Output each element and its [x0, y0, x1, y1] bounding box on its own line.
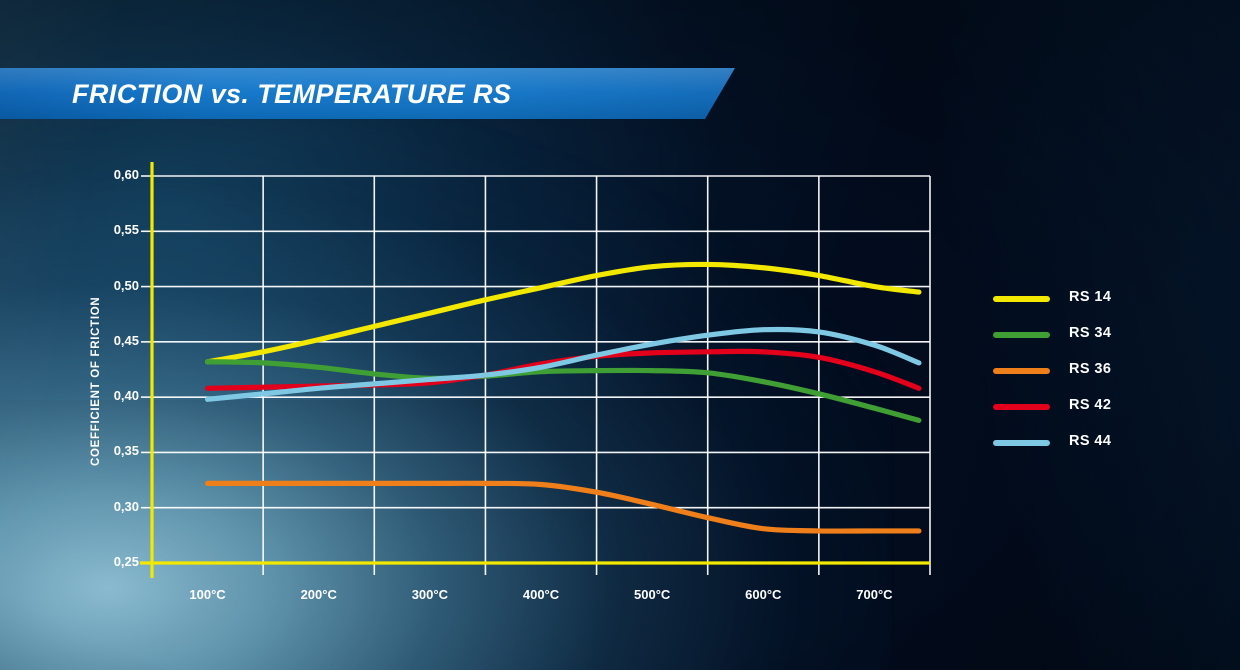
y-axis-title: COEFFICIENT OF FRICTION — [90, 297, 102, 466]
x-axis-tick-marks — [263, 563, 930, 575]
legend-swatch-rs36 — [993, 368, 1050, 374]
y-tick-label: 0,50 — [91, 278, 139, 293]
legend-swatch-rs44 — [993, 440, 1050, 446]
friction-chart-page: FRICTION vs. TEMPERATURE RS 0,600,550,50… — [0, 0, 1240, 670]
legend-label-rs14: RS 14 — [1069, 289, 1111, 305]
legend-label-rs44: RS 44 — [1069, 433, 1111, 449]
x-tick-label: 100°C — [163, 587, 253, 602]
legend-item[interactable]: RS 44 — [993, 429, 1203, 465]
y-tick-label: 0,25 — [91, 554, 139, 569]
y-axis-tick-marks — [141, 176, 152, 508]
legend-label-rs36: RS 36 — [1069, 361, 1111, 377]
x-tick-label: 200°C — [274, 587, 364, 602]
chart-legend: RS 14 RS 34 RS 36 RS 42 RS 44 — [993, 285, 1203, 465]
legend-item[interactable]: RS 34 — [993, 321, 1203, 357]
legend-swatch-rs14 — [993, 296, 1050, 302]
y-tick-label: 0,55 — [91, 222, 139, 237]
legend-swatch-rs34 — [993, 332, 1050, 338]
gridlines-horizontal — [152, 176, 930, 508]
legend-item[interactable]: RS 36 — [993, 357, 1203, 393]
x-tick-label: 500°C — [607, 587, 697, 602]
y-tick-label: 0,30 — [91, 499, 139, 514]
x-tick-label: 700°C — [829, 587, 919, 602]
legend-item[interactable]: RS 42 — [993, 393, 1203, 429]
x-tick-label: 300°C — [385, 587, 475, 602]
legend-label-rs34: RS 34 — [1069, 325, 1111, 341]
x-tick-label: 600°C — [718, 587, 808, 602]
y-tick-label: 0,60 — [91, 167, 139, 182]
legend-swatch-rs42 — [993, 404, 1050, 410]
legend-item[interactable]: RS 14 — [993, 285, 1203, 321]
legend-label-rs42: RS 42 — [1069, 397, 1111, 413]
x-tick-label: 400°C — [496, 587, 586, 602]
